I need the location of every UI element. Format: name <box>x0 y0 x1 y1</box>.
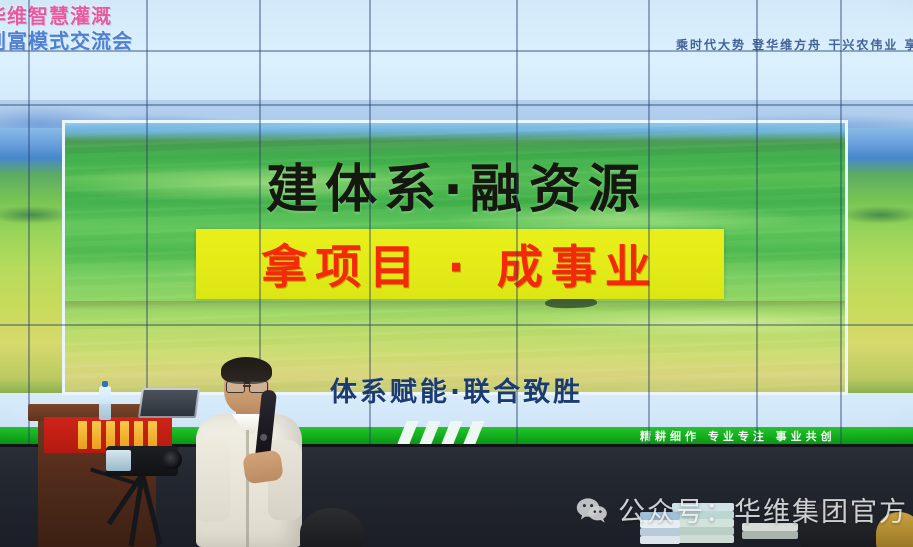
footer-bar-text: 精耕细作 专业专注 事业共创 <box>640 428 836 444</box>
booklet2-sheet-3 <box>640 528 680 536</box>
wechat-icon <box>576 497 608 523</box>
wall-bezel-vertical-8 <box>840 0 842 470</box>
wall-bezel-horizontal-2 <box>0 104 913 106</box>
slogan-banner: 拿项目 · 成事业 <box>196 229 724 299</box>
wechat-watermark: 公众号：华维集团官方 <box>576 490 908 529</box>
wall-bezel-vertical-5 <box>516 0 518 470</box>
slide-headline: 建体系·融资源 <box>0 164 913 216</box>
podium-banner-column-3 <box>106 421 115 449</box>
wall-bezel-vertical-7 <box>756 0 758 470</box>
wall-bezel-vertical-6 <box>648 0 650 470</box>
water-bottle <box>99 386 111 420</box>
video-camera-flip-screen <box>106 450 131 471</box>
photo-field-furrow <box>65 301 845 311</box>
video-camera-lens <box>163 450 182 469</box>
slogan-banner-text: 拿项目 · 成事业 <box>196 229 724 299</box>
wall-bezel-vertical-4 <box>369 0 371 470</box>
event-title: 华维智慧灌溉 创富模式交流会 <box>0 4 133 54</box>
speaker-shirt-placket <box>246 430 249 547</box>
wechat-watermark-text: 公众号：华维集团官方 <box>618 490 908 529</box>
podium-banner-column-6 <box>148 421 157 449</box>
event-title-line1: 华维智慧灌溉 <box>0 4 133 29</box>
speaker-hair <box>221 357 272 384</box>
wall-bezel-horizontal-3 <box>0 324 913 326</box>
booklet-sheet-5 <box>672 535 734 543</box>
screenshot-stage: 华维智慧灌溉 创富模式交流会 乘时代大势 登华维方舟 干兴农伟业 享 建体系·融… <box>0 0 913 547</box>
glasses-left-lens <box>226 381 245 393</box>
wall-bezel-vertical-1 <box>28 0 30 470</box>
speaker-glasses <box>226 381 268 391</box>
glasses-bridge <box>243 385 251 387</box>
podium-banner-column-5 <box>134 421 143 449</box>
podium-banner-column-2 <box>92 421 101 449</box>
laptop-on-podium <box>138 388 200 418</box>
podium-banner-column-1 <box>78 421 87 449</box>
speaker-hands <box>242 450 284 485</box>
wall-bezel-horizontal-1 <box>0 50 913 52</box>
booklet2-sheet-4 <box>640 536 680 544</box>
podium-banner-column-4 <box>120 421 129 449</box>
speaker-left-arm <box>196 440 230 522</box>
papers-sheet-2 <box>742 531 798 539</box>
led-video-wall: 华维智慧灌溉 创富模式交流会 乘时代大势 登华维方舟 干兴农伟业 享 建体系·融… <box>0 0 913 470</box>
